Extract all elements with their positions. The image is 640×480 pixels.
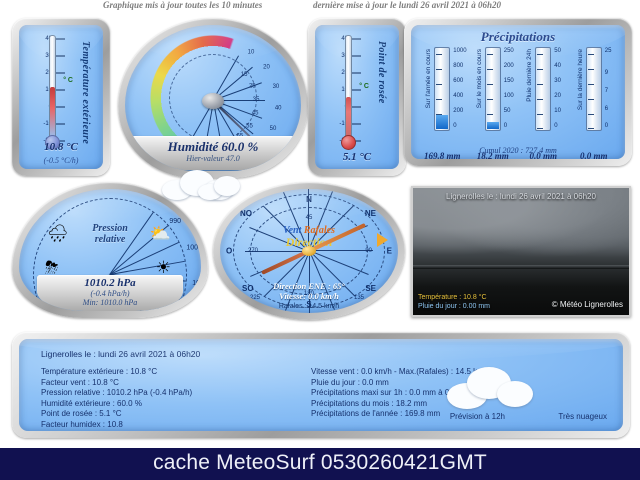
- dew-point-label: Point de rosée: [376, 41, 387, 104]
- webcam-image[interactable]: Lignerolles le : lundi 26 avril 2021 à 0…: [411, 186, 631, 317]
- wind-direction-text: Direction ENE : 65°: [273, 281, 345, 291]
- precip-gauge-label: Pluie dernière 24h: [526, 49, 533, 102]
- top-header-strip: Graphique mis à jour toutes les 10 minut…: [0, 0, 640, 12]
- summary-left-column: Température extérieure : 10.8 °C Facteur…: [41, 367, 311, 431]
- precip-gauge-fill: [487, 122, 499, 129]
- dew-point-glass: 40 30 20 10 0 -10 -20 ° C Point de rosée…: [315, 25, 399, 169]
- summary-line: Pluie du jour : 0.0 mm: [311, 378, 526, 389]
- summary-heading: Lignerolles le : lundi 26 avril 2021 à 0…: [41, 349, 200, 359]
- footer-text: cache MeteoSurf 0530260421GMT: [0, 451, 640, 475]
- thermometer-mercury: [346, 97, 351, 139]
- thermometer-bulb: [341, 135, 356, 150]
- precip-gauge-year: Sur l'année en cours 1000 800 600 400 20…: [417, 45, 468, 145]
- precipitation-title: Précipitations: [411, 29, 625, 45]
- precip-gauge-hour: Sur la dernière heure 25 9 7 6 0 0.0 mm: [569, 45, 620, 145]
- summary-line: Précipitations maxi sur 1h : 0.0 mm à 00…: [311, 388, 526, 399]
- precipitation-glass: Précipitations Sur l'année en cours 1000…: [411, 25, 625, 159]
- humidity-plaque: Humidité 60.0 % Hier-valeur 47.0: [131, 136, 295, 170]
- humidity-value: Humidité 60.0 %: [131, 139, 295, 155]
- forecast-label: Prévision à 12h: [450, 412, 505, 421]
- pressure-trend: (-0.4 hPa/h): [37, 289, 183, 298]
- pressure-caption: Pression relative: [19, 223, 201, 245]
- wind-readout: Direction ENE : 65° Vitesse: 0.0 km/h: [220, 281, 398, 301]
- compass-label-no: NO: [240, 209, 252, 218]
- forecast-value: Très nuageux: [558, 412, 607, 421]
- precip-gauge-tube: [485, 47, 501, 131]
- precipitation-cumul: Cumul 2020 : 727.4 mm: [411, 146, 625, 155]
- pressure-caption-line1: Pression: [92, 223, 128, 234]
- dew-point-card: 40 30 20 10 0 -10 -20 ° C Point de rosée…: [308, 18, 406, 176]
- webcam-caption-top: Lignerolles le : lundi 26 avril 2021 à 0…: [413, 192, 629, 201]
- wind-gust-flag-icon: [377, 233, 388, 247]
- precip-gauge-tube: [586, 47, 602, 131]
- precip-gauge-tube: [535, 47, 551, 131]
- last-update-note: dernière mise à jour le lundi 26 avril 2…: [313, 0, 501, 10]
- pressure-plaque: 1010.2 hPa (-0.4 hPa/h) Min: 1010.0 hPa: [37, 275, 183, 311]
- dew-point-thermometer: [341, 35, 355, 145]
- wind-gust-text: Rafales : 14.5 km/h: [220, 303, 398, 310]
- wind-compass-card: N NE E SE S SO O NO 45 90 135 180 225 27…: [213, 182, 405, 320]
- outdoor-temp-trend: (-0.5 °C/h): [19, 156, 103, 165]
- precip-gauge-fill: [436, 115, 448, 129]
- precip-gauge-label: Sur la dernière heure: [577, 49, 584, 110]
- compass-degree-45: 45: [306, 215, 313, 221]
- summary-line: Humidité extérieure : 60.0 %: [41, 399, 311, 410]
- precip-gauge-scale: 25 9 7 6 0: [603, 45, 625, 133]
- graph-update-note: Graphique mis à jour toutes les 10 minut…: [103, 0, 262, 10]
- compass-label-n: N: [306, 195, 312, 204]
- outdoor-temp-unit-marker: ° C: [63, 77, 73, 84]
- humidity-gauge-card: 10 20 30 40 50 60 70 80 90 15 25 35 45 5…: [118, 18, 308, 178]
- humidity-gauge-glass: 10 20 30 40 50 60 70 80 90 15 25 35 45 5…: [125, 25, 301, 171]
- humidity-needle-hub: [202, 93, 224, 109]
- webcam-overlay-rain: Pluie du jour : 0.00 mm: [418, 303, 490, 310]
- pressure-value: 1010.2 hPa: [37, 277, 183, 289]
- summary-line: Facteur vent : 10.8 °C: [41, 378, 311, 389]
- outdoor-temperature-card: 40 30 20 10 0 -10 -20 ° C Température ex…: [12, 18, 110, 176]
- outdoor-thermometer: [45, 35, 59, 145]
- summary-line: Point de rosée : 5.1 °C: [41, 409, 311, 420]
- dew-point-unit-marker: ° C: [359, 83, 369, 90]
- precipitation-gauges: Sur l'année en cours 1000 800 600 400 20…: [417, 45, 619, 145]
- summary-line: Température extérieure : 10.8 °C: [41, 367, 311, 378]
- wind-speed-text: Vitesse: 0.0 km/h: [279, 291, 339, 301]
- summary-line: Pression relative : 1010.2 hPa (-0.4 hPa…: [41, 388, 311, 399]
- dew-point-value: 5.1 °C: [315, 151, 399, 163]
- storm-icon: ⛈: [45, 259, 59, 276]
- precipitation-panel: Précipitations Sur l'année en cours 1000…: [404, 18, 632, 166]
- wind-compass-glass: N NE E SE S SO O NO 45 90 135 180 225 27…: [220, 189, 398, 313]
- outdoor-temperature-glass: 40 30 20 10 0 -10 -20 ° C Température ex…: [19, 25, 103, 169]
- outdoor-temp-label: Température extérieure: [80, 41, 91, 144]
- humidity-yesterday: Hier-valeur 47.0: [131, 154, 295, 163]
- precip-gauge-month: Sur le mois en cours 250 200 150 100 50 …: [468, 45, 519, 145]
- thermometer-mercury: [50, 87, 55, 139]
- summary-glass: Lignerolles le : lundi 26 avril 2021 à 0…: [19, 339, 623, 431]
- webcam-horizon: [413, 265, 629, 269]
- precip-gauge-label: Sur l'année en cours: [425, 49, 432, 108]
- weather-dashboard: Graphique mis à jour toutes les 10 minut…: [0, 0, 640, 480]
- pressure-min: Min: 1010.0 hPa: [37, 298, 183, 307]
- footer-bar: cache MeteoSurf 0530260421GMT: [0, 448, 640, 480]
- summary-line: Facteur humidex : 10.8: [41, 420, 311, 431]
- wind-needle-hub: [302, 246, 316, 256]
- webcam-copyright: © Météo Lignerolles: [552, 300, 623, 309]
- pressure-gauge-glass: 990 1000 1010 1020 1030 1040 🌧 ⛈ ⛅ ☀ Pre…: [19, 189, 201, 311]
- summary-line: Vitesse vent : 0.0 km/h - Max.(Rafales) …: [311, 367, 526, 378]
- pressure-caption-line2: relative: [95, 234, 126, 245]
- sun-icon: ☀: [156, 259, 171, 276]
- summary-line: Précipitations du mois : 18.2 mm: [311, 399, 526, 410]
- precip-gauge-24h: Pluie dernière 24h 50 40 30 20 10 0: [518, 45, 569, 145]
- precip-gauge-tube: [434, 47, 450, 131]
- outdoor-temp-value: 10.8 °C: [19, 141, 103, 153]
- precip-gauge-label: Sur le mois en cours: [476, 49, 483, 108]
- compass-label-ne: NE: [365, 209, 376, 218]
- pressure-gauge-card: 990 1000 1010 1020 1030 1040 🌧 ⛈ ⛅ ☀ Pre…: [12, 182, 208, 318]
- webcam-overlay-temperature: Température : 10.8 °C: [418, 294, 487, 301]
- summary-panel: Lignerolles le : lundi 26 avril 2021 à 0…: [12, 332, 630, 438]
